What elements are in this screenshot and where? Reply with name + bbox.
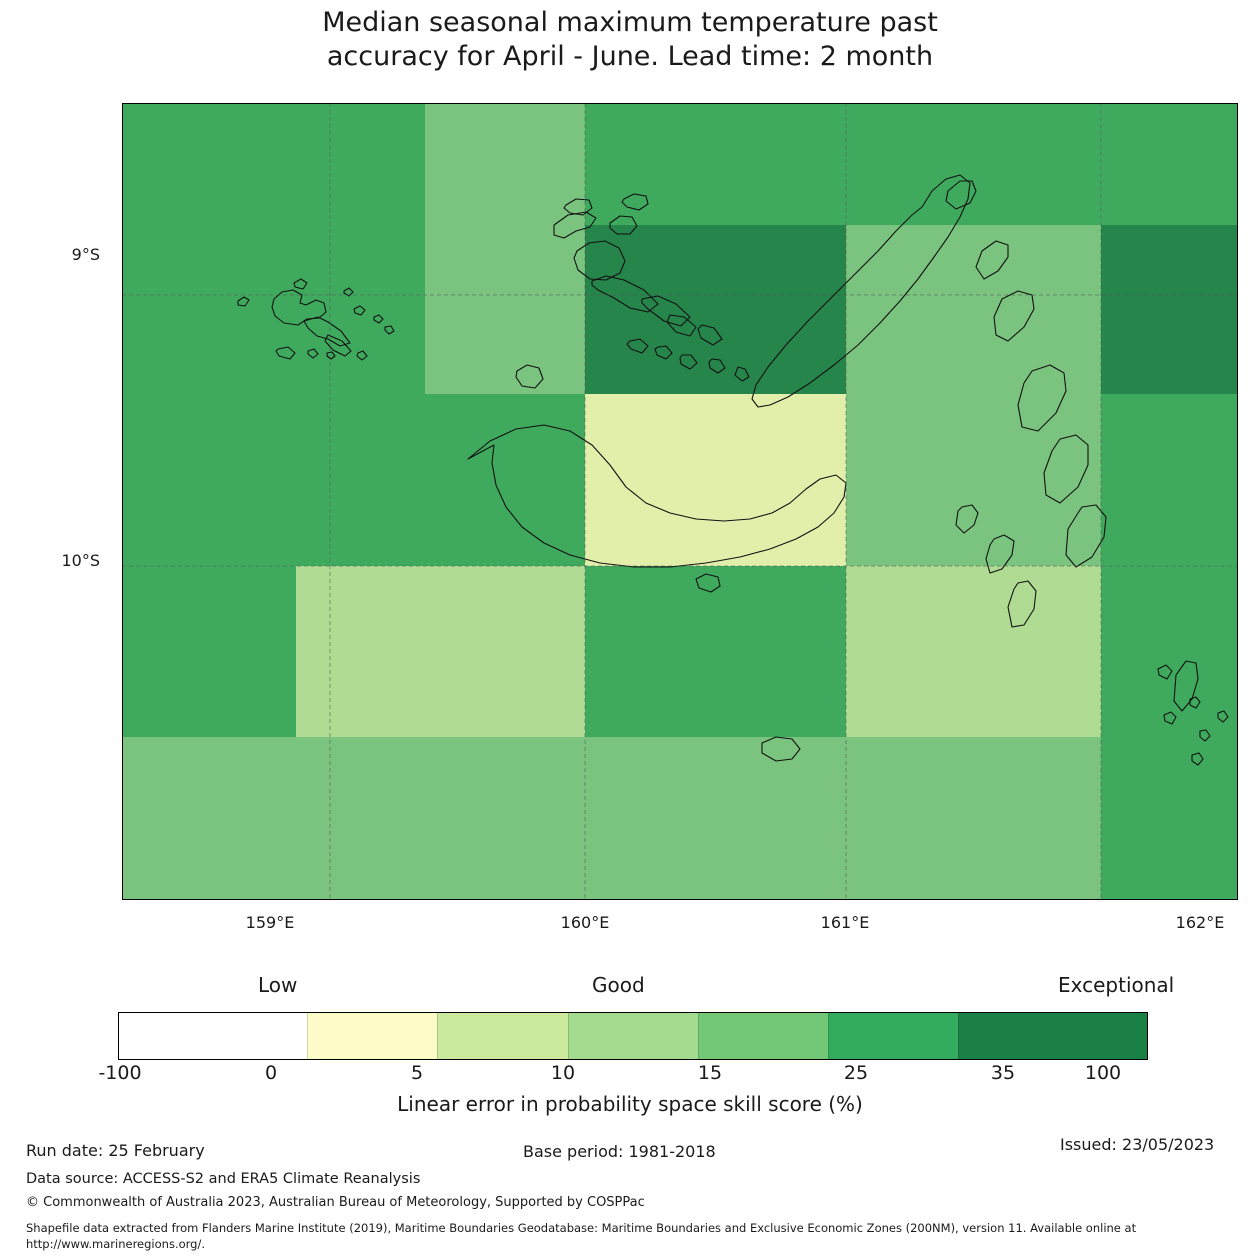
y-tick-label-10s: 10°S — [0, 551, 100, 570]
colorbar-segment — [958, 1013, 1147, 1059]
data-source-text: Data source: ACCESS-S2 and ERA5 Climate … — [26, 1171, 420, 1187]
x-tick-label-159e: 159°E — [210, 913, 330, 932]
shapefile-credit-line1: Shapefile data extracted from Flanders M… — [26, 1220, 1136, 1236]
colorbar-segment — [437, 1013, 567, 1059]
base-period-text: Base period: 1981-2018 — [523, 1142, 716, 1161]
colorbar-tick-5: 5 — [372, 1062, 462, 1084]
skill-score-map[interactable] — [122, 103, 1238, 900]
colorbar-tick-0: 0 — [226, 1062, 316, 1084]
x-tick-label-162e: 162°E — [1140, 913, 1260, 932]
y-tick-label-9s: 9°S — [0, 245, 100, 264]
colorbar-tick-25: 25 — [811, 1062, 901, 1084]
colorbar-segment — [119, 1013, 307, 1059]
shapefile-credit-line2: http://www.marineregions.org/. — [26, 1236, 205, 1252]
colorbar-tick-35: 35 — [958, 1062, 1048, 1084]
colorbar-tick--100: -100 — [75, 1062, 165, 1084]
run-date-text: Run date: 25 February — [26, 1141, 205, 1160]
map-gridlines — [122, 103, 1238, 900]
colorbar-tick-100: 100 — [1058, 1062, 1148, 1084]
issued-date-text: Issued: 23/05/2023 — [1060, 1135, 1214, 1154]
page-title-line2: accuracy for April - June. Lead time: 2 … — [0, 40, 1260, 74]
colorbar[interactable] — [118, 1012, 1148, 1060]
colorbar-axis-label: Linear error in probability space skill … — [0, 1092, 1260, 1116]
colorbar-segment — [307, 1013, 437, 1059]
page-title-line1: Median seasonal maximum temperature past — [0, 6, 1260, 40]
x-tick-label-160e: 160°E — [525, 913, 645, 932]
colorbar-tick-15: 15 — [665, 1062, 755, 1084]
colorbar-category-good: Good — [592, 973, 645, 997]
colorbar-segment — [698, 1013, 828, 1059]
colorbar-segment — [568, 1013, 698, 1059]
colorbar-category-low: Low — [258, 973, 297, 997]
colorbar-segment — [828, 1013, 958, 1059]
copyright-text: © Commonwealth of Australia 2023, Austra… — [26, 1195, 645, 1210]
colorbar-tick-10: 10 — [518, 1062, 608, 1084]
colorbar-category-exceptional: Exceptional — [1058, 973, 1174, 997]
x-tick-label-161e: 161°E — [785, 913, 905, 932]
page-title: Median seasonal maximum temperature past… — [0, 6, 1260, 74]
